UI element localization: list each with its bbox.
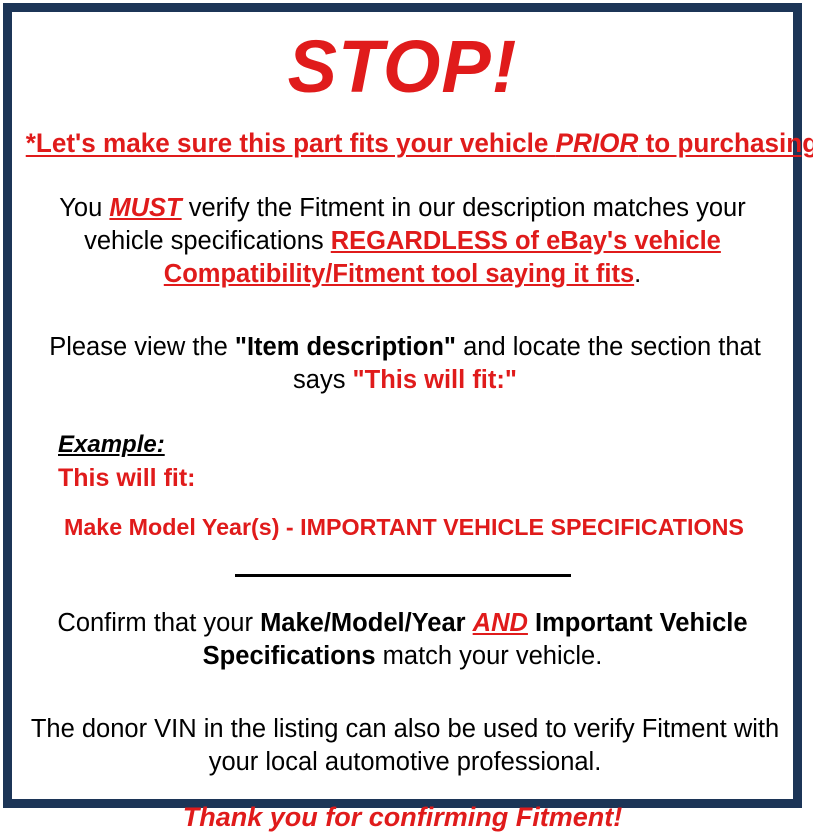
section-divider	[235, 574, 571, 577]
subtitle-banner: *Let's make sure this part fits your veh…	[26, 106, 780, 158]
confirm-paragraph: Confirm that your Make/Model/Year AND Im…	[23, 585, 783, 673]
fitment-notice-card: STOP! *Let's make sure this part fits yo…	[3, 3, 802, 808]
must-verify-paragraph: You MUST verify the Fitment in our descr…	[23, 158, 783, 291]
must-para-part1: You	[59, 194, 109, 222]
example-label-row: Example:	[58, 431, 785, 459]
notice-content: STOP! *Let's make sure this part fits yo…	[12, 12, 793, 799]
thank-you-line: Thank you for confirming Fitment!	[20, 779, 785, 833]
confirm-part1: Confirm that your	[57, 609, 260, 637]
this-will-fit-quote: "This will fit:"	[353, 366, 517, 394]
example-this-will-fit-heading: This will fit:	[58, 459, 785, 493]
example-block: Example: This will fit: Make Model Year(…	[20, 397, 785, 541]
confirm-space2	[528, 609, 535, 637]
page-title: STOP!	[20, 12, 785, 106]
item-description-paragraph: Please view the "Item description" and l…	[20, 291, 790, 397]
item-description-label: "Item description"	[235, 333, 456, 361]
divider-row	[20, 541, 785, 585]
confirm-space1	[466, 609, 473, 637]
make-model-year-label: Make/Model/Year	[260, 609, 466, 637]
must-keyword: MUST	[109, 194, 181, 222]
view-para-part1: Please view the	[49, 333, 235, 361]
subtitle-suffix: to purchasing*	[638, 128, 813, 158]
example-label: Example:	[58, 431, 165, 459]
and-keyword: AND	[473, 609, 528, 637]
subtitle-prefix: *Let's make sure this part fits your veh…	[26, 128, 556, 158]
must-para-part3: .	[634, 260, 641, 288]
confirm-part2: match your vehicle.	[376, 642, 603, 670]
example-spec-line: Make Model Year(s) - IMPORTANT VEHICLE S…	[58, 493, 778, 541]
donor-vin-paragraph: The donor VIN in the listing can also be…	[20, 673, 790, 779]
subtitle-emphasis-prior: PRIOR	[556, 128, 639, 158]
